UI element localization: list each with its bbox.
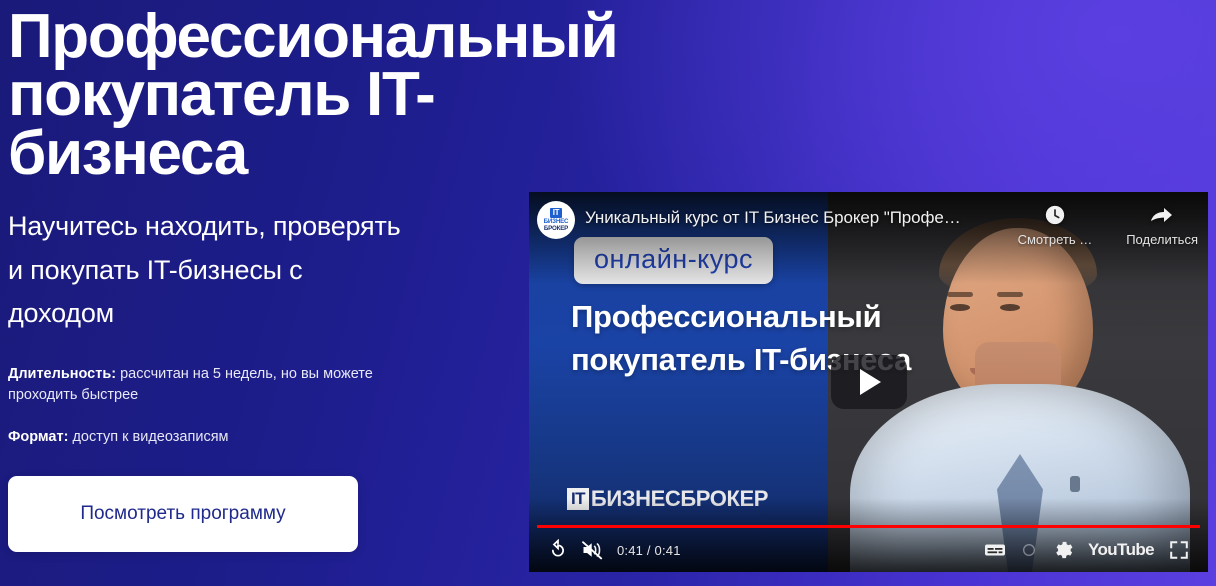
avatar-it-mark: IT [550,208,563,218]
replay-button[interactable] [541,533,575,567]
autoplay-icon [1021,542,1037,558]
replay-icon [547,539,569,561]
time-display: 0:41 / 0:41 [617,543,681,558]
thumbnail-title: Профессиональный покупатель IT-бизнеса [571,296,1001,382]
play-triangle-icon [860,369,881,395]
fullscreen-icon [1168,539,1190,561]
avatar-line-2: БРОКЕР [544,226,568,232]
share-button[interactable]: Поделиться [1126,204,1198,247]
meta-format-value: доступ к видеозаписям [68,429,228,445]
meta-format: Формат: доступ к видеозаписям [8,427,438,448]
lapel-microphone [1070,476,1080,492]
share-label: Поделиться [1126,232,1198,247]
landing-page: Профессиональный покупатель IT-бизнеса Н… [0,0,1216,586]
mute-button[interactable] [575,533,609,567]
hero-subtitle: Научитесь находить, проверять и покупать… [8,205,513,336]
fullscreen-button[interactable] [1162,533,1196,567]
play-button[interactable] [831,355,907,409]
player-actions: Смотреть … Поделиться [1018,204,1198,247]
watch-later-label: Смотреть … [1018,232,1093,247]
share-icon [1149,204,1175,226]
view-program-button[interactable]: Посмотреть программу [8,476,358,552]
youtube-logo[interactable]: YouTube [1088,540,1154,560]
youtube-player[interactable]: онлайн-курс Профессиональный покупатель … [529,192,1208,572]
page-title: Профессиональный покупатель IT-бизнеса [8,0,528,183]
presenter-eye-right [1000,304,1020,311]
captions-button[interactable] [978,533,1012,567]
player-controls: 0:41 / 0:41 [529,528,1208,572]
settings-button[interactable] [1046,533,1080,567]
hero-meta-block: Длительность: рассчитан на 5 недель, но … [8,364,528,448]
meta-duration-label: Длительность: [8,366,116,382]
meta-duration: Длительность: рассчитан на 5 недель, но … [8,364,438,405]
video-title-link[interactable]: Уникальный курс от IT Бизнес Брокер "Про… [585,208,1055,228]
subtitles-icon [983,538,1007,562]
clock-icon [1044,204,1066,226]
watch-later-button[interactable]: Смотреть … [1018,204,1093,247]
player-top-bar: IT БИЗНЕС БРОКЕР Уникальный курс от IT Б… [529,192,1208,262]
channel-avatar[interactable]: IT БИЗНЕС БРОКЕР [537,201,575,239]
meta-format-label: Формат: [8,429,68,445]
volume-muted-icon [580,538,604,562]
gear-icon [1052,539,1074,561]
hero-text-column: Профессиональный покупатель IT-бизнеса Н… [8,0,528,586]
autoplay-toggle[interactable] [1012,533,1046,567]
